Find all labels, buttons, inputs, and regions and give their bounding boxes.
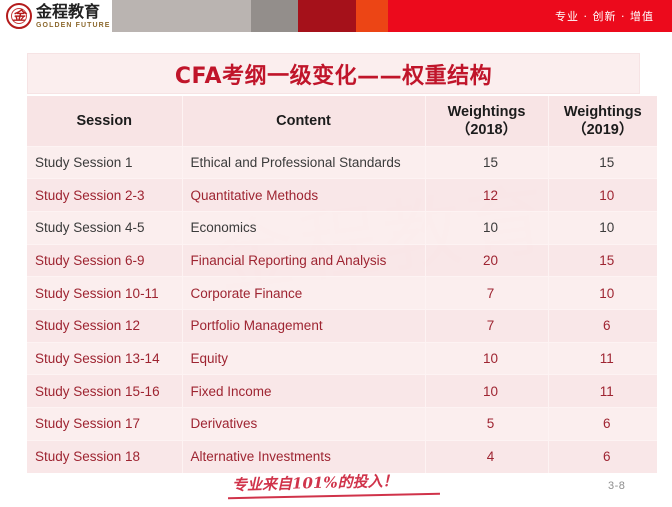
cell-content: Portfolio Management — [182, 309, 425, 342]
page-title: CFA考纲一级变化——权重结构 — [175, 58, 492, 90]
brand-name-en: GOLDEN FUTURE — [36, 22, 111, 29]
cell-weighting-2018: 12 — [425, 179, 548, 212]
cell-content: Ethical and Professional Standards — [182, 146, 425, 179]
mid-gray-bar — [251, 0, 298, 32]
column-header-weightings-2018: Weightings （2018） — [425, 96, 548, 146]
weightings-table-wrapper: Session Content Weightings （2018） Weight… — [27, 96, 657, 473]
column-header-session: Session — [27, 96, 182, 146]
column-header-w2018-line2: （2018） — [430, 121, 544, 139]
cell-weighting-2019: 11 — [548, 375, 657, 408]
table-row: Study Session 15-16 Fixed Income 10 11 — [27, 375, 657, 408]
seal-glyph: 金 — [12, 10, 25, 23]
cell-session: Study Session 12 — [27, 309, 182, 342]
cell-weighting-2018: 7 — [425, 277, 548, 310]
title-banner: CFA考纲一级变化——权重结构 — [27, 53, 640, 94]
cell-content: Equity — [182, 342, 425, 375]
footer-slogan: 专业来自101%的投入！ — [232, 470, 398, 495]
brand-name-cn: 金程教育 — [36, 4, 111, 20]
table-row: Study Session 10-11 Corporate Finance 7 … — [27, 277, 657, 310]
cell-weighting-2019: 15 — [548, 146, 657, 179]
cell-content: Alternative Investments — [182, 440, 425, 473]
cell-session: Study Session 1 — [27, 146, 182, 179]
table-body: Study Session 1 Ethical and Professional… — [27, 146, 657, 473]
page-number: 3-8 — [608, 480, 625, 492]
cell-session: Study Session 13-14 — [27, 342, 182, 375]
cell-weighting-2019: 11 — [548, 342, 657, 375]
table-row: Study Session 12 Portfolio Management 7 … — [27, 309, 657, 342]
banner-tagline: 专业 · 创新 · 增值 — [555, 8, 654, 24]
cell-weighting-2019: 6 — [548, 408, 657, 441]
cell-session: Study Session 4-5 — [27, 211, 182, 244]
cell-session: Study Session 17 — [27, 408, 182, 441]
light-gray-bar — [112, 0, 251, 32]
cell-content: Derivatives — [182, 408, 425, 441]
table-header: Session Content Weightings （2018） Weight… — [27, 96, 657, 146]
column-header-session-line1: Session — [31, 112, 178, 130]
table-row: Study Session 13-14 Equity 10 11 — [27, 342, 657, 375]
cell-weighting-2018: 15 — [425, 146, 548, 179]
cell-weighting-2018: 7 — [425, 309, 548, 342]
cell-weighting-2018: 10 — [425, 211, 548, 244]
cell-content: Fixed Income — [182, 375, 425, 408]
cell-session: Study Session 6-9 — [27, 244, 182, 277]
column-header-w2019-line1: Weightings — [553, 103, 654, 121]
slide-body: 金程教育 CFA考纲一级变化——权重结构 Session Content — [0, 32, 672, 507]
cell-weighting-2019: 6 — [548, 440, 657, 473]
circular-seal-icon: 金 — [6, 3, 32, 29]
column-header-weightings-2019: Weightings （2019） — [548, 96, 657, 146]
cell-weighting-2018: 4 — [425, 440, 548, 473]
weightings-table: Session Content Weightings （2018） Weight… — [27, 96, 657, 473]
cell-weighting-2019: 10 — [548, 211, 657, 244]
cell-session: Study Session 10-11 — [27, 277, 182, 310]
column-header-w2018-line1: Weightings — [430, 103, 544, 121]
brand-logo: 金 金程教育 GOLDEN FUTURE — [0, 0, 112, 32]
table-row: Study Session 17 Derivatives 5 6 — [27, 408, 657, 441]
table-row: Study Session 2-3 Quantitative Methods 1… — [27, 179, 657, 212]
table-row: Study Session 6-9 Financial Reporting an… — [27, 244, 657, 277]
table-row: Study Session 4-5 Economics 10 10 — [27, 211, 657, 244]
cell-weighting-2018: 10 — [425, 342, 548, 375]
orange-bar — [356, 0, 388, 32]
cell-content: Quantitative Methods — [182, 179, 425, 212]
brand-logo-text: 金程教育 GOLDEN FUTURE — [36, 4, 111, 29]
cell-session: Study Session 2-3 — [27, 179, 182, 212]
column-header-w2019-line2: （2019） — [553, 121, 654, 139]
cell-session: Study Session 18 — [27, 440, 182, 473]
red-bar: 专业 · 创新 · 增值 — [388, 0, 672, 32]
cell-weighting-2018: 10 — [425, 375, 548, 408]
dark-red-bar — [298, 0, 356, 32]
cell-weighting-2018: 20 — [425, 244, 548, 277]
cell-weighting-2019: 6 — [548, 309, 657, 342]
cell-content: Corporate Finance — [182, 277, 425, 310]
cell-weighting-2019: 10 — [548, 277, 657, 310]
table-row: Study Session 1 Ethical and Professional… — [27, 146, 657, 179]
cell-content: Financial Reporting and Analysis — [182, 244, 425, 277]
cell-weighting-2019: 15 — [548, 244, 657, 277]
cell-weighting-2019: 10 — [548, 179, 657, 212]
column-header-content-line1: Content — [187, 112, 421, 130]
column-header-content: Content — [182, 96, 425, 146]
cell-weighting-2018: 5 — [425, 408, 548, 441]
cell-session: Study Session 15-16 — [27, 375, 182, 408]
top-banner: 金 金程教育 GOLDEN FUTURE 专业 · 创新 · 增值 — [0, 0, 672, 32]
table-header-row: Session Content Weightings （2018） Weight… — [27, 96, 657, 146]
cell-content: Economics — [182, 211, 425, 244]
table-row: Study Session 18 Alternative Investments… — [27, 440, 657, 473]
